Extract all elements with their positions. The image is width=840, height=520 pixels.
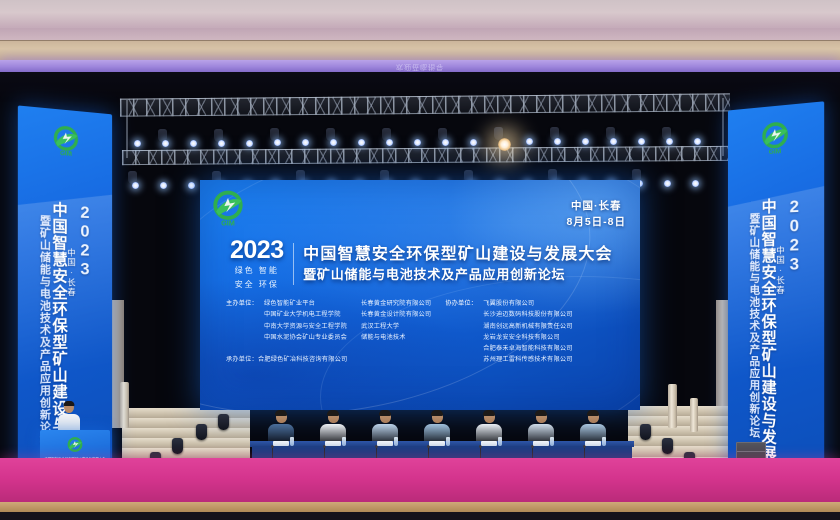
- stage-lamp: [188, 182, 195, 189]
- event-title-sub: 暨矿山储能与电池技术及产品应用创新论坛: [303, 267, 613, 284]
- stage-lamp: [498, 138, 511, 151]
- stage-lamp: [330, 139, 337, 146]
- water-bottle-6: [550, 437, 554, 446]
- organizer-line: 承办单位：合肥绿色矿冶科技咨询有限公司: [226, 354, 347, 363]
- nameplate-3: [377, 441, 393, 446]
- panelist-head: [276, 411, 287, 423]
- pink-carpet: [0, 458, 840, 504]
- speaker-head: [64, 402, 74, 413]
- baluster-right: [668, 384, 677, 428]
- stage-lamp: [610, 138, 617, 145]
- panelist-head: [380, 411, 391, 423]
- ceiling-soffit: [0, 40, 840, 62]
- tagline-line-1: 绿色 智能: [230, 265, 284, 277]
- stage-lamp: [442, 139, 449, 146]
- stage-lamp: [218, 140, 225, 147]
- host-item-b-1: 长春黄金设计院有限公司: [361, 309, 431, 320]
- event-year: 2023: [230, 238, 284, 263]
- event-title-main: 中国智慧安全环保型矿山建设与发展大会: [303, 245, 613, 265]
- stage-lamp: [246, 140, 253, 147]
- nameplate-6: [533, 441, 549, 446]
- stage-lamp: [638, 138, 645, 145]
- truss-leg-right: [722, 98, 724, 156]
- water-bottle-2: [342, 437, 346, 446]
- nameplate-5: [481, 441, 497, 446]
- event-city: 中国·长春: [566, 198, 626, 214]
- co-organizers-label: 协办单位：: [445, 298, 477, 366]
- stage-lamp: [582, 138, 589, 145]
- event-location-block: 中国·长春 8月5日-8日: [566, 198, 626, 231]
- nameplate-1: [273, 441, 289, 446]
- stage-lamp: [134, 140, 141, 147]
- baluster-left: [120, 382, 129, 428]
- floor-moving-head-1: [172, 438, 183, 454]
- host-item-b-0: 长春黄金研究院有限公司: [361, 298, 431, 309]
- led-strip-text: 欢迎莅临指导: [0, 62, 840, 72]
- title-divider: [293, 243, 295, 285]
- host-item-b-3: 储能与电池技术: [361, 332, 431, 343]
- co-organizer-item-0: 飞翼股份有限公司: [483, 298, 572, 309]
- baluster-right-2: [690, 398, 698, 432]
- panelist-head: [328, 411, 339, 423]
- floor-moving-head-3: [218, 414, 229, 430]
- tagline-line-2: 安全 环保: [230, 279, 284, 291]
- water-bottle-1: [290, 437, 294, 446]
- nameplate-2: [325, 441, 341, 446]
- co-organizer-item-5: 苏州理工雷科传感技术有限公司: [483, 354, 572, 365]
- host-item-1: 中国矿业大学机电工程学院: [264, 309, 347, 320]
- title-block: 中国智慧安全环保型矿山建设与发展大会 暨矿山储能与电池技术及产品应用创新论坛: [303, 245, 613, 284]
- stage-lamp: [386, 139, 393, 146]
- organizer-value: 合肥绿色矿冶科技咨询有限公司: [258, 356, 347, 363]
- svg-text:GIM: GIM: [60, 150, 72, 158]
- nameplate-4: [429, 441, 445, 446]
- stage-lamp: [666, 138, 673, 145]
- panelist-head: [536, 411, 547, 423]
- co-organizers-list: 飞翼股份有限公司长沙迪迈数码科技股份有限公司湖南创远高新机械有限责任公司龙岩龙安…: [483, 298, 572, 366]
- gim-logo-icon: GIM: [208, 188, 248, 233]
- water-bottle-7: [602, 437, 606, 446]
- co-organizer-item-1: 长沙迪迈数码科技股份有限公司: [483, 309, 572, 320]
- gim-logo-mark: GIM: [208, 188, 248, 228]
- floor-moving-head-2: [196, 424, 207, 440]
- stage-lamp: [358, 139, 365, 146]
- stage-lamp: [162, 140, 169, 147]
- co-organizer-item-3: 龙岩龙安安全科技有限公司: [483, 332, 572, 343]
- stage-lamp: [132, 182, 139, 189]
- water-bottle-5: [498, 437, 502, 446]
- panelist-head: [588, 411, 599, 423]
- conference-stage-photo: 欢迎莅临指导 GIM: [0, 0, 840, 520]
- gim-logo-icon: [64, 436, 86, 456]
- organizer-label: 承办单位：: [226, 356, 258, 363]
- stage-lamp: [526, 138, 533, 145]
- floor-moving-head-4: [640, 424, 651, 440]
- host-item-b-2: 武汉工程大学: [361, 321, 431, 332]
- panelist-head: [484, 411, 495, 423]
- gim-logo-icon: GIM: [756, 118, 795, 157]
- water-bottle-3: [394, 437, 398, 446]
- led-title-row: 2023 绿色 智能 安全 环保 中国智慧安全环保型矿山建设与发展大会 暨矿山储…: [230, 238, 613, 290]
- panelist-head: [432, 411, 443, 423]
- stage-lamp: [692, 180, 699, 187]
- truss-lower: [122, 146, 728, 165]
- stage-lamp: [190, 140, 197, 147]
- stage-lamp: [160, 182, 167, 189]
- stage-lamp: [414, 139, 421, 146]
- year-block: 2023 绿色 智能 安全 环保: [230, 238, 284, 290]
- floor-moving-head-5: [662, 438, 673, 454]
- truss-leg-left: [126, 100, 128, 158]
- stage-lamp: [554, 138, 561, 145]
- host-item-2: 中南大学资源与安全工程学院: [264, 321, 347, 332]
- event-dates: 8月5日-8日: [566, 214, 626, 230]
- host-item-0: 绿色智能矿业平台: [264, 298, 347, 309]
- stage-apron: [0, 512, 840, 520]
- stage-lamp: [302, 139, 309, 146]
- svg-text:GIM: GIM: [769, 148, 782, 156]
- nameplate-7: [585, 441, 601, 446]
- co-organizers-group: 协办单位： 飞翼股份有限公司长沙迪迈数码科技股份有限公司湖南创远高新机械有限责任…: [445, 298, 572, 366]
- svg-text:GIM: GIM: [221, 218, 235, 227]
- co-organizer-item-2: 湖南创远高新机械有限责任公司: [483, 321, 572, 332]
- hosts-column-b: 长春黄金研究院有限公司长春黄金设计院有限公司武汉工程大学储能与电池技术: [361, 298, 431, 366]
- stage-lamp: [470, 139, 477, 146]
- stage-lamp: [274, 139, 281, 146]
- gim-logo-icon: GIM: [47, 122, 84, 159]
- stage-lamp: [694, 138, 701, 145]
- stage-lamp: [664, 180, 671, 187]
- led-backdrop-screen: GIM 中国·长春 8月5日-8日 2023 绿色 智能 安全 环保 中国智慧安…: [200, 180, 640, 410]
- host-item-3: 中国水泥协会矿山专业委员会: [264, 332, 347, 343]
- co-organizer-item-4: 合肥泰禾卓海智能科技有限公司: [483, 343, 572, 354]
- water-bottle-4: [446, 437, 450, 446]
